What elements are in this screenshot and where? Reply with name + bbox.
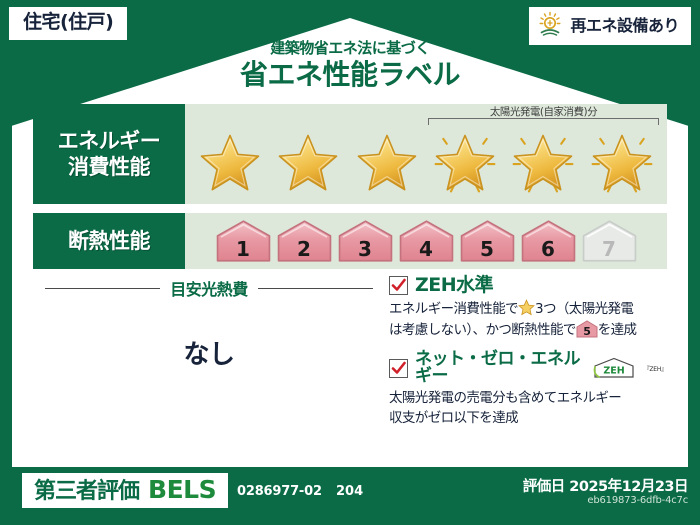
- renewable-energy-badge: 再エネ設備あり: [528, 6, 692, 46]
- star-6: [587, 127, 657, 197]
- title-block: 建築物省エネ法に基づく 省エネ性能ラベル: [0, 40, 700, 90]
- utility-cost-heading: 目安光熱費: [170, 276, 248, 300]
- solar-annotation-text: 太陽光発電(自家消費)分: [426, 104, 661, 119]
- utility-cost-rule-left: [45, 288, 160, 289]
- certificate-number: 0286977-02: [237, 484, 322, 499]
- solar-annotation-group: 太陽光発電(自家消費)分: [426, 105, 661, 125]
- zeh-standard-desc: エネルギー消費性能で3つ（太陽光発電 は考慮しない）、かつ断熱性能で5を達成: [389, 299, 667, 340]
- grade-number: 6: [520, 239, 577, 259]
- utility-cost-heading-wrap: 目安光熱費: [33, 276, 385, 300]
- star-5: [508, 127, 578, 197]
- insulation-grade-5: 5: [459, 219, 516, 263]
- zeh-desc-star-count: 3つ（太陽光発電: [535, 301, 633, 317]
- net-zero-desc-line1: 太陽光発電の売電分も含めてエネルギー: [389, 390, 621, 406]
- zeh-standard-checkbox[interactable]: [389, 276, 408, 295]
- housing-type-label: 住宅(住戸): [23, 11, 113, 33]
- bottom-columns: 目安光熱費 なし ZEH水準: [33, 276, 667, 439]
- label-title: 省エネ性能ラベル: [0, 60, 700, 91]
- check-icon: [391, 361, 406, 376]
- bels-mark: BELS: [148, 477, 216, 502]
- zeh-desc-part1: エネルギー消費性能で: [389, 301, 518, 317]
- insulation-performance-body: 1 2 3: [185, 213, 667, 269]
- grade-number: 4: [398, 239, 455, 259]
- zeh-desc-part2: は考慮しない）、かつ断熱性能で: [389, 322, 576, 338]
- insulation-performance-row: 断熱性能 1: [33, 213, 667, 269]
- check-icon: [391, 278, 406, 293]
- solar-sun-icon: [537, 11, 563, 41]
- footer: 第三者評価 BELS 0286977-02 204 評価日 2025年12月23…: [0, 467, 700, 525]
- housing-type-chip: 住宅(住戸): [8, 6, 128, 41]
- net-zero-energy-block: ネット・ゼロ・エネルギー ZEH 『ZEH』 太陽光発電の売電分も含めてエネルギ…: [389, 351, 667, 428]
- zeh-desc-part3: を達成: [598, 322, 637, 338]
- zeh-section: ZEH水準 エネルギー消費性能で3つ（太陽光発電 は考慮しない）、かつ断熱性能で…: [385, 276, 667, 439]
- star-1: [195, 127, 265, 197]
- evaluation-date: 評価日 2025年12月23日: [523, 475, 688, 496]
- energy-performance-label: エネルギー 消費性能: [33, 104, 185, 204]
- inline-grade-badge: 5: [576, 320, 598, 338]
- insulation-grade-strip: 1 2 3: [185, 213, 667, 269]
- panel-content: 建築物省エネ法に基づく 省エネ性能ラベル エネルギー 消費性能 太陽光発電(自家…: [0, 0, 700, 525]
- zeh-standard-head: ZEH水準: [389, 276, 667, 295]
- utility-cost-section: 目安光熱費 なし: [33, 276, 385, 439]
- net-zero-checkbox[interactable]: [389, 359, 408, 378]
- grade-number: 2: [276, 239, 333, 259]
- insulation-grade-3: 3: [337, 219, 394, 263]
- insulation-grade-2: 2: [276, 219, 333, 263]
- zeh-standard-block: ZEH水準 エネルギー消費性能で3つ（太陽光発電 は考慮しない）、かつ断熱性能で…: [389, 276, 667, 340]
- insulation-performance-label: 断熱性能: [33, 213, 185, 269]
- grade-number: 3: [337, 239, 394, 259]
- grade-number: 1: [215, 239, 272, 259]
- star-4: [430, 127, 500, 197]
- inline-grade-number: 5: [576, 326, 598, 337]
- renewable-badge-label: 再エネ設備あり: [570, 18, 679, 34]
- zeh-house-logo-icon: ZEH: [592, 357, 636, 379]
- zeh-standard-title: ZEH水準: [415, 276, 493, 295]
- svg-text:ZEH: ZEH: [603, 366, 624, 377]
- insulation-grade-6: 6: [520, 219, 577, 263]
- net-zero-desc: 太陽光発電の売電分も含めてエネルギー 収支がゼロ以下を達成: [389, 389, 667, 428]
- net-zero-desc-line2: 収支がゼロ以下を達成: [389, 410, 518, 426]
- evaluation-hash: eb619873-6dfb-4c7c: [587, 495, 688, 506]
- star-rating-strip: [185, 126, 667, 198]
- bels-energy-label: 住宅(住戸) 再エネ設備あり: [0, 0, 700, 525]
- insulation-grade-7: 7: [581, 219, 638, 263]
- energy-label-line2: 消費性能: [68, 154, 150, 180]
- utility-cost-rule-right: [258, 288, 373, 289]
- performance-rows: エネルギー 消費性能 太陽光発電(自家消費)分: [33, 104, 667, 278]
- energy-performance-body: 太陽光発電(自家消費)分: [185, 104, 667, 204]
- insulation-grade-1: 1: [215, 219, 272, 263]
- inline-star-icon: [518, 299, 535, 316]
- net-zero-title: ネット・ゼロ・エネルギー: [415, 351, 582, 385]
- zeh-logo-caption: 『ZEH』: [644, 364, 667, 373]
- unit-number: 204: [336, 484, 363, 499]
- net-zero-head: ネット・ゼロ・エネルギー ZEH 『ZEH』: [389, 351, 667, 385]
- energy-label-line1: エネルギー: [58, 128, 161, 154]
- energy-performance-row: エネルギー 消費性能 太陽光発電(自家消費)分: [33, 104, 667, 204]
- bels-chip: 第三者評価 BELS: [22, 473, 228, 508]
- grade-number: 7: [581, 239, 638, 259]
- star-3: [352, 127, 422, 197]
- star-2: [273, 127, 343, 197]
- grade-number: 5: [459, 239, 516, 259]
- insulation-grade-4: 4: [398, 219, 455, 263]
- insulation-label-text: 断熱性能: [68, 228, 150, 254]
- utility-cost-value: なし: [33, 334, 385, 371]
- third-party-label: 第三者評価: [34, 481, 139, 503]
- solar-bracket: [428, 118, 659, 125]
